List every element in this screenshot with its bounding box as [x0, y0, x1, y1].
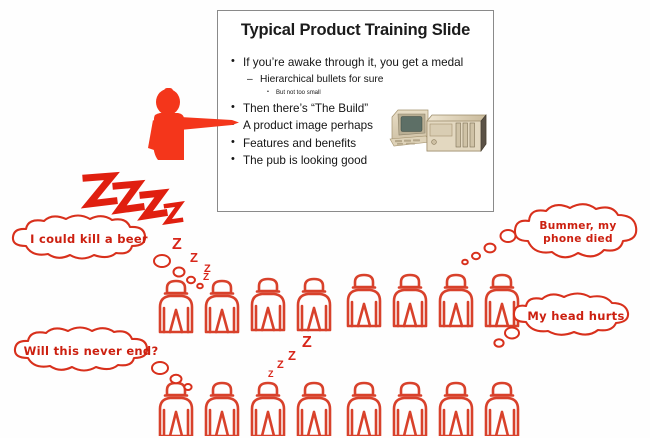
thought-bubble-head-hurts: My head hurts — [506, 290, 646, 342]
sleep-z-icon: Z — [288, 348, 296, 363]
audience-figure — [384, 378, 436, 436]
thought-bubble-tail — [486, 325, 526, 357]
audience-row — [338, 268, 528, 328]
audience-row — [338, 378, 528, 438]
audience-figure — [242, 378, 294, 436]
bullet-item: Hierarchical bullets for sure — [230, 73, 485, 87]
bullet-item: But not too small — [230, 88, 485, 99]
thought-bubble-tail — [452, 228, 522, 270]
scene-canvas: Typical Product Training Slide If you’re… — [0, 0, 650, 438]
vintage-computer-icon — [386, 101, 491, 163]
slide-title: Typical Product Training Slide — [218, 21, 493, 40]
sleep-z-icon: Z — [277, 359, 284, 371]
bullet-item: If you’re awake through it, you get a me… — [230, 55, 485, 70]
audience-figure — [384, 270, 436, 328]
audience-figure — [430, 270, 482, 328]
audience-figure — [338, 378, 390, 436]
thought-bubble-tail — [148, 360, 218, 400]
audience-figure — [338, 270, 390, 328]
audience-figure — [430, 378, 482, 436]
audience-figure — [476, 378, 528, 436]
audience-figure — [242, 274, 294, 332]
audience-figure — [288, 274, 340, 332]
thought-bubble-tail — [148, 252, 218, 294]
sleep-z-icon: Z — [302, 334, 312, 352]
presentation-slide: Typical Product Training Slide If you’re… — [217, 10, 494, 212]
thought-bubble-phone-died: Bummer, my phone died — [508, 199, 648, 267]
presenter-figure-icon — [140, 84, 245, 174]
audience-figure — [288, 378, 340, 436]
